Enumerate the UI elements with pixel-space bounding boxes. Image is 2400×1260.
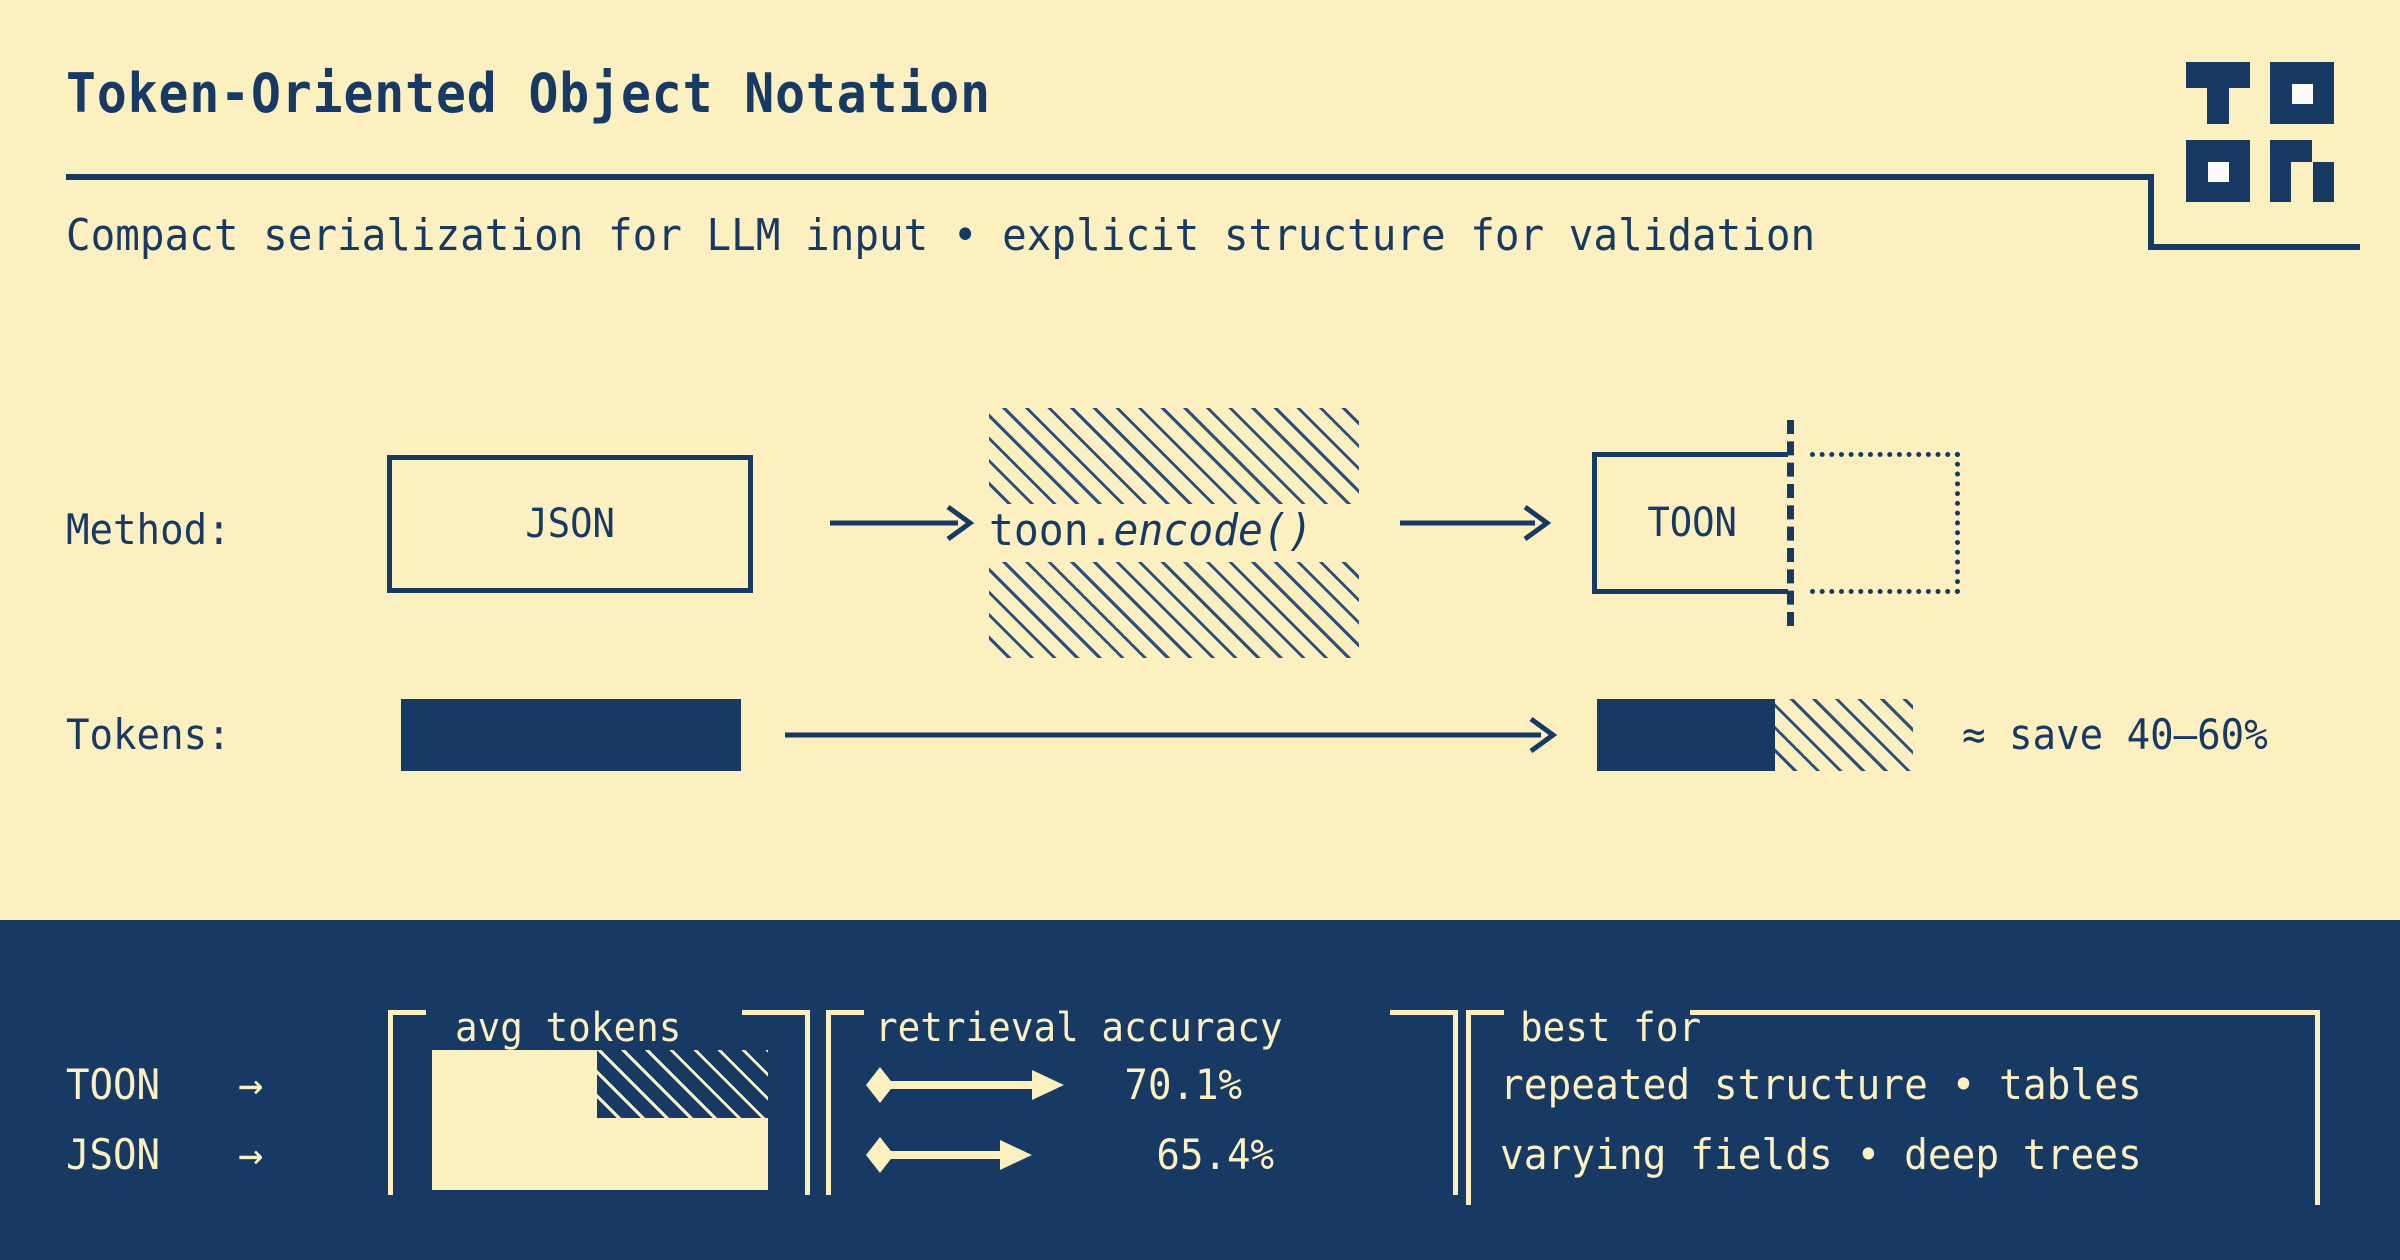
avg-tokens-legend: avg tokens: [455, 1005, 681, 1051]
logo-letter-o-bottom: [2186, 140, 2250, 202]
arrow-json-to-encode: [830, 500, 990, 546]
encode-hatch-bottom: [989, 562, 1359, 658]
encode-hatch-top: [989, 408, 1359, 504]
toon-box: TOON: [1592, 452, 1788, 594]
header-divider-step: [2148, 174, 2154, 250]
best-for-legend: best for: [1520, 1005, 1701, 1051]
encode-call-text: toon.encode(): [989, 505, 1313, 556]
retrieval-arrow-toon: [866, 1062, 1076, 1108]
avg-tokens-bar-toon-saved: [597, 1050, 768, 1118]
tokens-row-label: Tokens:: [66, 710, 231, 759]
json-box-label: JSON: [525, 501, 615, 547]
avg-tokens-frame-top-right: [742, 1010, 810, 1015]
avg-tokens-frame-top-left: [388, 1010, 426, 1015]
best-for-line-json: varying fields • deep trees: [1500, 1130, 2142, 1179]
retrieval-row-json: 65.4%: [866, 1130, 1278, 1179]
header-divider: [66, 174, 2154, 180]
retrieval-frame-right: [1453, 1010, 1458, 1195]
panel-row-arrow-json: →: [238, 1130, 263, 1179]
toon-box-extension: [1810, 452, 1960, 594]
logo-letter-t: [2186, 62, 2250, 124]
page-title: Token-Oriented Object Notation: [66, 62, 991, 125]
savings-note: ≈ save 40–60%: [1962, 710, 2268, 759]
arrow-encode-to-toon: [1400, 500, 1570, 546]
toon-logo: [2186, 62, 2346, 202]
tokens-bar-toon-solid: [1597, 699, 1775, 771]
avg-tokens-frame-right: [805, 1010, 810, 1195]
toon-box-divider: [1787, 420, 1794, 626]
best-for-line-toon: repeated structure • tables: [1500, 1060, 2142, 1109]
avg-tokens-frame-left: [388, 1010, 393, 1195]
best-for-frame-left: [1466, 1010, 1471, 1205]
infographic-stage: Token-Oriented Object Notation Compact s…: [0, 0, 2400, 1260]
retrieval-value-toon: 70.1%: [1124, 1060, 1242, 1109]
encode-prefix: toon.: [989, 505, 1114, 556]
tokens-bar-json: [401, 699, 741, 771]
logo-letter-o-top: [2270, 62, 2334, 124]
arrow-tokens-flow: [785, 712, 1575, 758]
page-subtitle: Compact serialization for LLM input • ex…: [66, 210, 1815, 261]
retrieval-frame-top-right: [1390, 1010, 1458, 1015]
avg-tokens-bar-json: [432, 1118, 768, 1190]
best-for-frame-right: [2315, 1010, 2320, 1205]
encode-method: encode(): [1114, 505, 1313, 556]
retrieval-value-json: 65.4%: [1156, 1130, 1274, 1179]
retrieval-arrow-json: [866, 1132, 1076, 1178]
avg-tokens-bar-toon: [432, 1050, 597, 1118]
retrieval-row-toon: 70.1%: [866, 1060, 1246, 1109]
json-box: JSON: [387, 455, 753, 593]
toon-box-label: TOON: [1648, 500, 1738, 546]
logo-letter-n: [2270, 140, 2334, 202]
header-divider-lower: [2148, 244, 2360, 250]
panel-row-arrow-toon: →: [238, 1060, 263, 1109]
retrieval-legend: retrieval accuracy: [875, 1005, 1282, 1051]
method-row-label: Method:: [66, 505, 231, 554]
tokens-bar-toon-saved: [1775, 699, 1913, 771]
panel-row-label-json: JSON: [66, 1130, 160, 1179]
best-for-frame-top-left: [1466, 1010, 1504, 1015]
best-for-frame-top-right: [1690, 1010, 2320, 1015]
retrieval-frame-top-left: [826, 1010, 864, 1015]
retrieval-frame-left: [826, 1010, 831, 1195]
panel-row-label-toon: TOON: [66, 1060, 160, 1109]
